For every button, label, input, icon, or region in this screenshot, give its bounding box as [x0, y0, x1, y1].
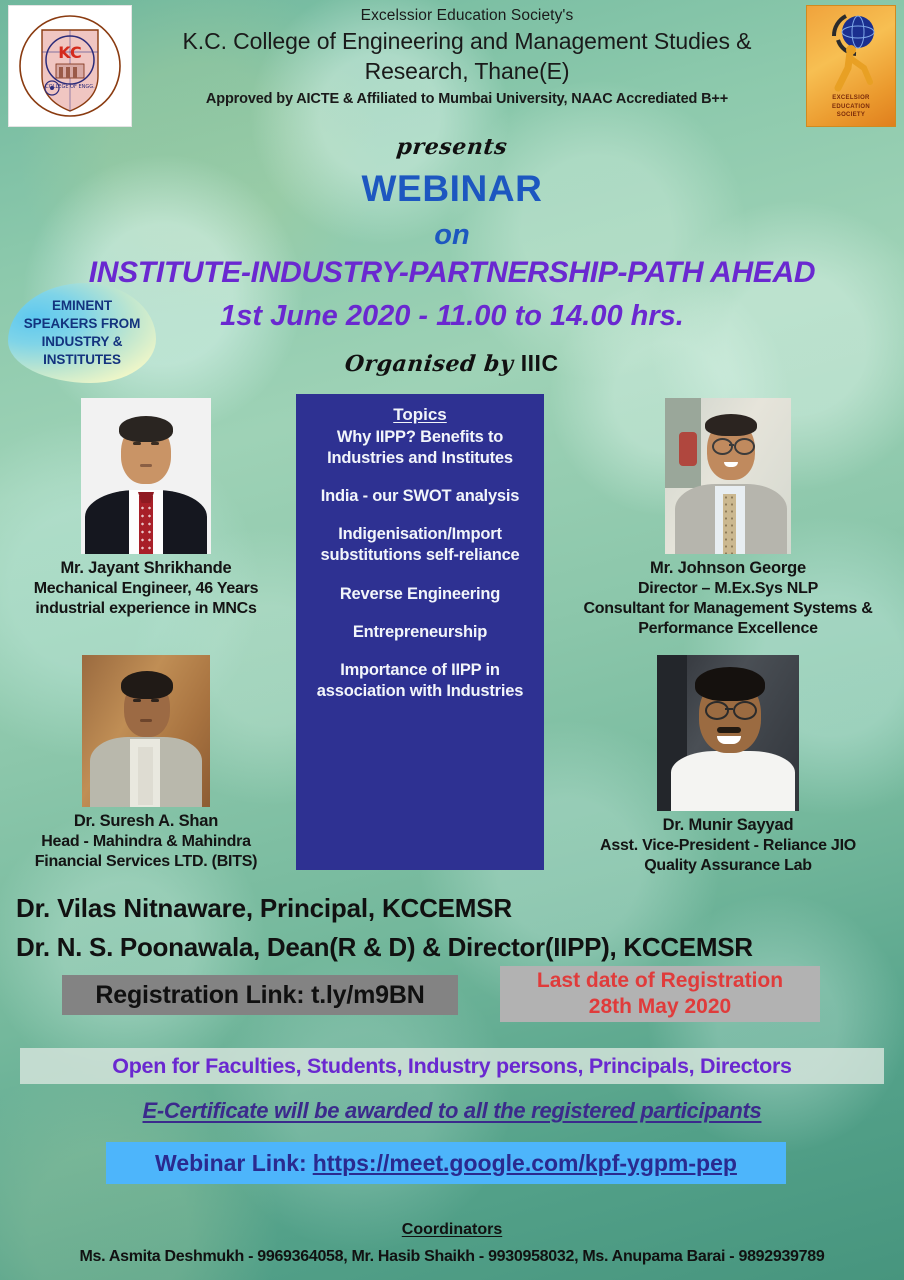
excelsior-education-society-logo: EXCELSIOR EDUCATION SOCIETY — [806, 5, 896, 127]
speaker-role: Director – M.Ex.Sys NLP — [552, 579, 904, 599]
speaker-name: Dr. Munir Sayyad — [552, 815, 904, 836]
speaker-role: Financial Services LTD. (BITS) — [0, 852, 292, 872]
webinar-heading: WEBINAR — [0, 168, 904, 210]
webinar-poster: KC COLLEGE OF ENGG. Excelssior Education… — [0, 0, 904, 1280]
badge-line-3: INDUSTRY & — [42, 334, 123, 349]
page-title: INSTITUTE-INDUSTRY-PARTNERSHIP-PATH AHEA… — [0, 256, 904, 290]
last-date-value: 28th May 2020 — [589, 994, 731, 1020]
speaker-role: Mechanical Engineer, 46 Years — [0, 579, 292, 599]
speaker-photo — [657, 655, 799, 811]
coordinators-heading: Coordinators — [0, 1221, 904, 1239]
badge-line-4: INSTITUTES — [43, 352, 121, 367]
topics-panel: Topics Why IIPP? Benefits to Industries … — [296, 394, 544, 870]
speaker-name: Dr. Suresh A. Shan — [0, 811, 292, 832]
speaker-photo — [82, 655, 210, 807]
speaker-role: Consultant for Management Systems & — [552, 599, 904, 619]
poster-header: KC COLLEGE OF ENGG. Excelssior Education… — [0, 0, 904, 128]
society-name: Excelssior Education Society's — [140, 4, 794, 27]
speaker-photo — [81, 398, 211, 554]
speaker-card: Mr. Johnson George Director – M.Ex.Sys N… — [552, 398, 904, 639]
speaker-card: Dr. Munir Sayyad Asst. Vice-President - … — [552, 655, 904, 876]
eminent-speakers-badge-text: EMINENT SPEAKERS FROM INDUSTRY & INSTITU… — [24, 297, 140, 368]
open-for-banner: Open for Faculties, Students, Industry p… — [20, 1048, 884, 1084]
speaker-card: Dr. Suresh A. Shan Head - Mahindra & Mah… — [0, 655, 292, 872]
principal-line: Dr. Vilas Nitnaware, Principal, KCCEMSR — [16, 893, 512, 924]
on-connector: on — [0, 219, 904, 252]
kc-college-shield-logo: KC COLLEGE OF ENGG. — [8, 5, 132, 127]
speaker-name: Mr. Johnson George — [552, 558, 904, 579]
dean-line: Dr. N. S. Poonawala, Dean(R & D) & Direc… — [16, 932, 753, 963]
topic-item: Indigenisation/Import substitutions self… — [309, 524, 531, 566]
speaker-role: Head - Mahindra & Mahindra — [0, 832, 292, 852]
webinar-link-banner[interactable]: Webinar Link: https://meet.google.com/kp… — [106, 1142, 786, 1184]
speaker-photo — [665, 398, 791, 554]
registration-link-banner[interactable]: Registration Link: t.ly/m9BN — [62, 975, 458, 1015]
society-logo-text: EXCELSIOR EDUCATION SOCIETY — [832, 94, 870, 120]
badge-line-2: SPEAKERS FROM — [24, 316, 140, 331]
institution-titles: Excelssior Education Society's K.C. Coll… — [140, 4, 794, 107]
speaker-name: Mr. Jayant Shrikhande — [0, 558, 292, 579]
e-certificate-note: E-Certificate will be awarded to all the… — [0, 1098, 904, 1124]
speaker-role: industrial experience in MNCs — [0, 599, 292, 619]
presents-label: presents — [0, 134, 904, 160]
open-for-text: Open for Faculties, Students, Industry p… — [112, 1054, 791, 1079]
last-date-banner: Last date of Registration 28th May 2020 — [500, 966, 820, 1022]
speaker-card: Mr. Jayant Shrikhande Mechanical Enginee… — [0, 398, 292, 619]
registration-link-text: Registration Link: t.ly/m9BN — [95, 981, 424, 1010]
topic-item: India - our SWOT analysis — [309, 486, 531, 507]
speaker-role: Performance Excellence — [552, 619, 904, 639]
eminent-speakers-badge: EMINENT SPEAKERS FROM INDUSTRY & INSTITU… — [8, 283, 156, 383]
organised-by-label: Organised by — [344, 351, 515, 377]
topic-item: Why IIPP? Benefits to Industries and Ins… — [309, 427, 531, 469]
badge-line-1: EMINENT — [52, 298, 112, 313]
webinar-link-label: Webinar Link: — [155, 1150, 307, 1177]
webinar-link-url[interactable]: https://meet.google.com/kpf-ygpm-pep — [313, 1150, 737, 1177]
accreditation-line: Approved by AICTE & Affiliated to Mumbai… — [140, 91, 794, 107]
topic-item: Importance of IIPP in association with I… — [309, 660, 531, 702]
organiser-name: IIIC — [521, 350, 559, 376]
topic-item: Reverse Engineering — [309, 584, 531, 605]
topics-heading: Topics — [393, 405, 447, 425]
college-name-line1: K.C. College of Engineering and Manageme… — [140, 27, 794, 56]
topic-item: Entrepreneurship — [309, 622, 531, 643]
coordinators-list: Ms. Asmita Deshmukh - 9969364058, Mr. Ha… — [0, 1248, 904, 1266]
speaker-role: Quality Assurance Lab — [552, 856, 904, 876]
svg-text:KC: KC — [58, 43, 81, 62]
college-name-line2: Research, Thane(E) — [140, 57, 794, 86]
speaker-role: Asst. Vice-President - Reliance JIO — [552, 836, 904, 856]
last-date-label: Last date of Registration — [537, 968, 783, 994]
